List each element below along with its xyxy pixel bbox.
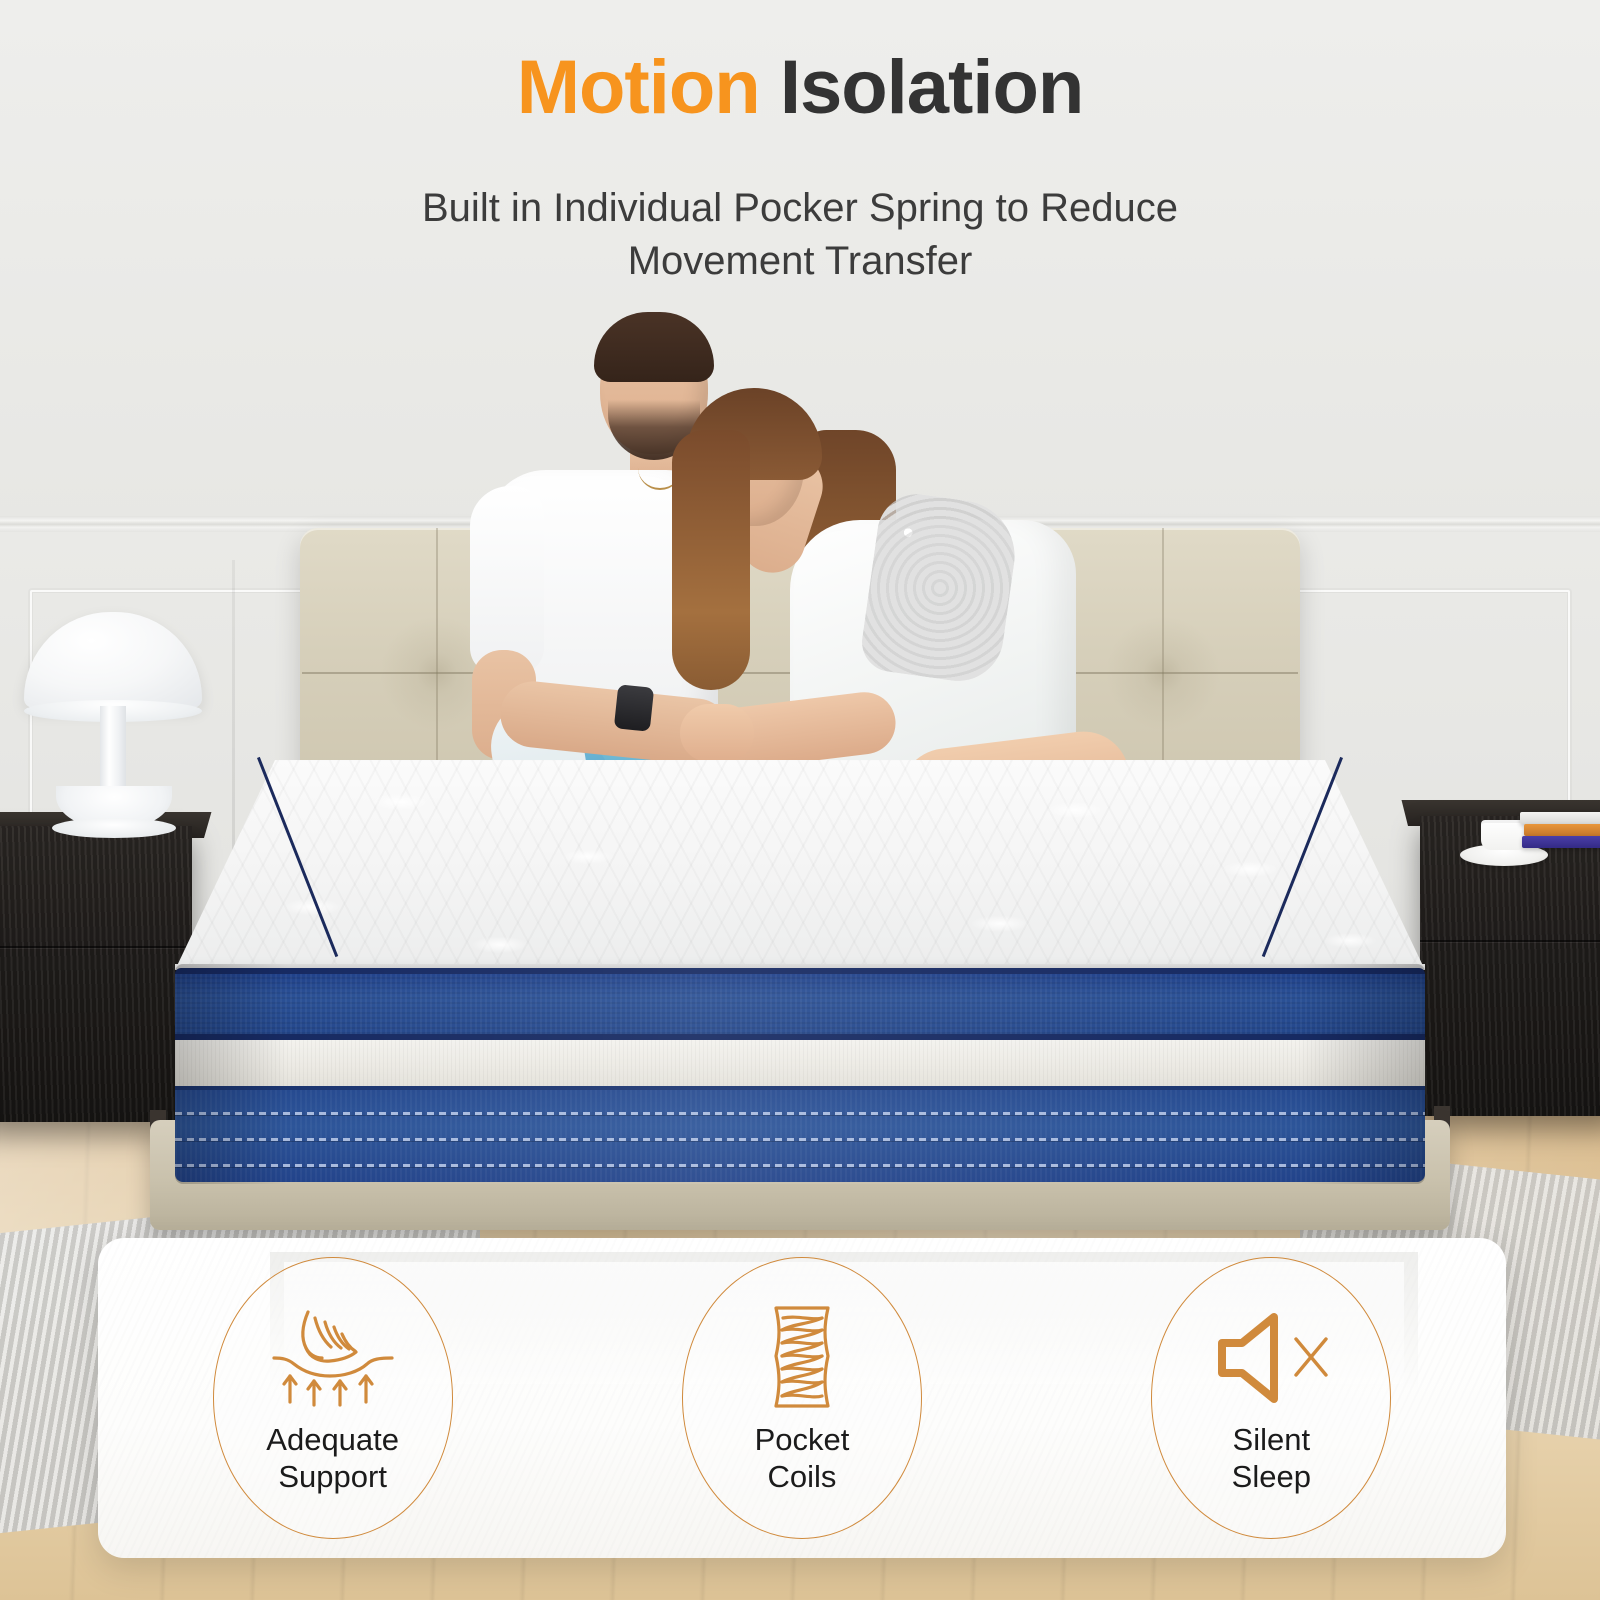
- drawer-seam: [1420, 940, 1600, 942]
- pocket-coil-spring-icon: [752, 1300, 852, 1416]
- feature-label: Silent Sleep: [1232, 1422, 1311, 1495]
- feature-pocket-coils[interactable]: Pocket Coils: [682, 1257, 922, 1539]
- woman-hand: [680, 704, 754, 762]
- feature-silent-sleep[interactable]: Silent Sleep: [1151, 1257, 1391, 1539]
- feature-label: Pocket Coils: [755, 1422, 850, 1495]
- book-stack-item: [1524, 824, 1600, 836]
- feature-highlights-card: Adequate Support: [98, 1238, 1506, 1558]
- muted-speaker-icon: [1208, 1300, 1334, 1416]
- mattress-quilt-puffs: [175, 760, 1425, 970]
- feature-adequate-support[interactable]: Adequate Support: [213, 1257, 453, 1539]
- hand-pressing-support-icon: [268, 1300, 398, 1416]
- drawer-seam: [0, 946, 192, 948]
- product-marketing-image: Motion Isolation Built in Individual Poc…: [0, 0, 1600, 1600]
- nightstand-left: [0, 826, 192, 1122]
- headboard-tuft: [1098, 608, 1228, 738]
- woman-lace-sleeve: [858, 489, 1022, 687]
- page-title: Motion Isolation: [0, 48, 1600, 128]
- book-stack-item: [1522, 836, 1600, 848]
- man-sleeve: [470, 486, 544, 674]
- mattress-stitch-line: [175, 1138, 1425, 1141]
- mattress-navy-band-upper: [175, 968, 1425, 1040]
- mattress-navy-band-lower: [175, 1086, 1425, 1182]
- mattress-white-band: [175, 1040, 1425, 1086]
- mattress-stitch-line: [175, 1112, 1425, 1115]
- mattress: [175, 760, 1425, 1170]
- feature-label: Adequate Support: [266, 1422, 399, 1495]
- subheadline: Built in Individual Pocker Spring to Red…: [300, 182, 1300, 288]
- headline-accent-word: Motion: [517, 45, 760, 130]
- table-lamp-foot: [52, 818, 176, 838]
- mattress-stitch-line: [175, 1164, 1425, 1167]
- man-wristwatch: [614, 684, 654, 732]
- woman-hair-left: [672, 430, 750, 690]
- book-stack-item: [1520, 812, 1600, 824]
- subheadline-line-2: Movement Transfer: [300, 235, 1300, 288]
- subheadline-line-1: Built in Individual Pocker Spring to Red…: [300, 182, 1300, 235]
- headline-main-word: Isolation: [780, 45, 1083, 130]
- feature-list: Adequate Support: [98, 1238, 1506, 1558]
